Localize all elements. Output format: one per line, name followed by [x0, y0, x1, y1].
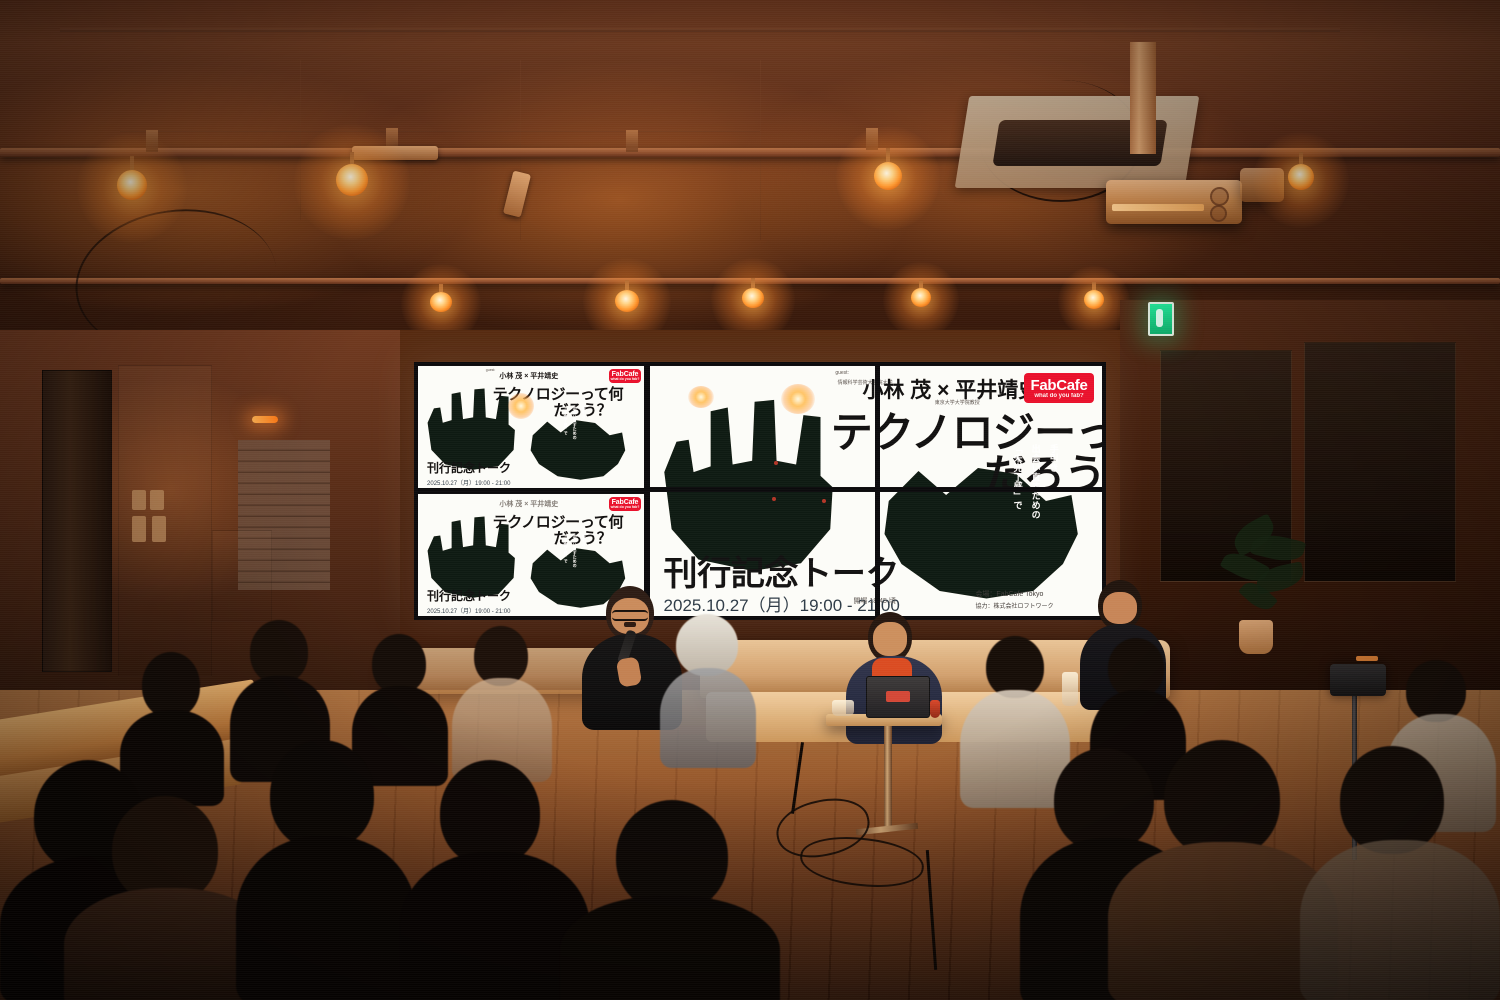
screen-tile-top-left[interactable]: FabCafe what do you fab? 小林 茂 × 平井靖史 gue…: [418, 366, 644, 488]
poster-guest-names: 小林 茂 × 平井靖史: [499, 499, 558, 509]
poster-subtitle: 刊行記念トーク: [427, 587, 511, 604]
table-leg: [884, 726, 892, 828]
poster-guest-prefix: guest:: [486, 368, 496, 372]
poster-vertical-1: 「未完了感」で: [1012, 444, 1025, 549]
track-light-3: [866, 148, 910, 200]
event-photo-scene: FabCafe what do you fab? 小林 茂 × 平井靖史 gue…: [0, 0, 1500, 1000]
plant-pot: [1239, 620, 1273, 654]
video-camera: [1330, 664, 1386, 696]
poster-guest-prefix: guest:: [835, 370, 849, 376]
poster-date: 2025.10.27（月）19:00 - 21:00: [427, 478, 510, 487]
poster-videowall: 情報科学芸術大学院大学 guest: 小林 茂 × 平井靖史 東京大学大学院教授…: [650, 366, 1102, 616]
poster-subtitle: 刊行記念トーク: [664, 546, 900, 595]
drink-cup: [930, 700, 940, 718]
laptop[interactable]: [866, 676, 930, 718]
ceiling-beam-upper: [0, 148, 1500, 157]
track-light-7: [736, 278, 770, 316]
poster-vertical-3: 手引き: [581, 534, 587, 575]
audience-member-white-hair: [660, 614, 756, 764]
track-light-2: [330, 152, 374, 202]
track-light-8: [905, 280, 937, 316]
track-light-5: [424, 284, 458, 320]
poster-vertical-2: 出会い直すための: [1030, 444, 1043, 549]
poster-guest-names: 小林 茂 × 平井靖史: [499, 371, 558, 381]
fabcafe-logo-tagline: what do you fab?: [611, 506, 640, 510]
poster-vertical-3: 手引き: [581, 406, 587, 447]
projector: [1106, 180, 1242, 224]
poster-title-line2: だろう？: [984, 441, 1102, 502]
screen-wall[interactable]: FabCafe what do you fab? 小林 茂 × 平井靖史 gue…: [414, 362, 1106, 620]
audience-member-foreground: [1300, 746, 1500, 1000]
track-spotlight-fixture: [503, 170, 531, 217]
camera-top-light: [1356, 656, 1378, 661]
poster-date: 2025.10.27（月）19:00 - 21:00: [427, 606, 510, 615]
wall-spotlight: [252, 416, 278, 423]
fabcafe-logo-tagline: what do you fab?: [611, 378, 640, 382]
fabcafe-logo-name: FabCafe: [1030, 378, 1087, 393]
poster-vertical-1: 「未完了感」で: [563, 534, 569, 585]
window-pane-right: [1304, 342, 1456, 582]
lamp-reflection-right: [781, 384, 815, 414]
left-door: [42, 370, 112, 672]
poster-vertical-3: 手引き: [1048, 444, 1061, 519]
lamp-reflection-left: [688, 386, 714, 408]
track-light-6: [609, 280, 645, 318]
poster-venue-credit: 会場：FabCafe Tokyo: [975, 589, 1043, 599]
poster-subtitle: 刊行記念トーク: [427, 459, 511, 476]
fabcafe-logo: FabCafe what do you fab?: [609, 497, 641, 511]
track-light-9: [1078, 282, 1110, 318]
screen-videowall[interactable]: 情報科学芸術大学院大学 guest: 小林 茂 × 平井靖史 東京大学大学院教授…: [650, 366, 1102, 616]
projector-pole: [1130, 42, 1156, 154]
poster-vertical-2: 出会い直すための: [572, 534, 578, 585]
emergency-exit-icon: [1148, 302, 1174, 336]
poster-vertical-2: 出会い直すための: [572, 406, 578, 457]
poster-vertical-1: 「未完了感」で: [563, 406, 569, 457]
lamp-reflection: [508, 393, 534, 419]
tissue-box: [832, 700, 854, 716]
eyeglasses-icon: [612, 610, 648, 621]
track-light-1: [110, 156, 154, 206]
audience-member-foreground: [560, 800, 780, 1000]
audience-member-foreground: [236, 740, 416, 1000]
poster-thumbnail: FabCafe what do you fab? 小林 茂 × 平井靖史 gue…: [418, 366, 644, 488]
fabcafe-logo: FabCafe what do you fab?: [609, 369, 641, 383]
track-light-4: [1281, 152, 1321, 200]
audience-member: [452, 626, 552, 780]
poster-organizer-credit: 協力：株式会社ロフトワーク: [975, 601, 1053, 610]
